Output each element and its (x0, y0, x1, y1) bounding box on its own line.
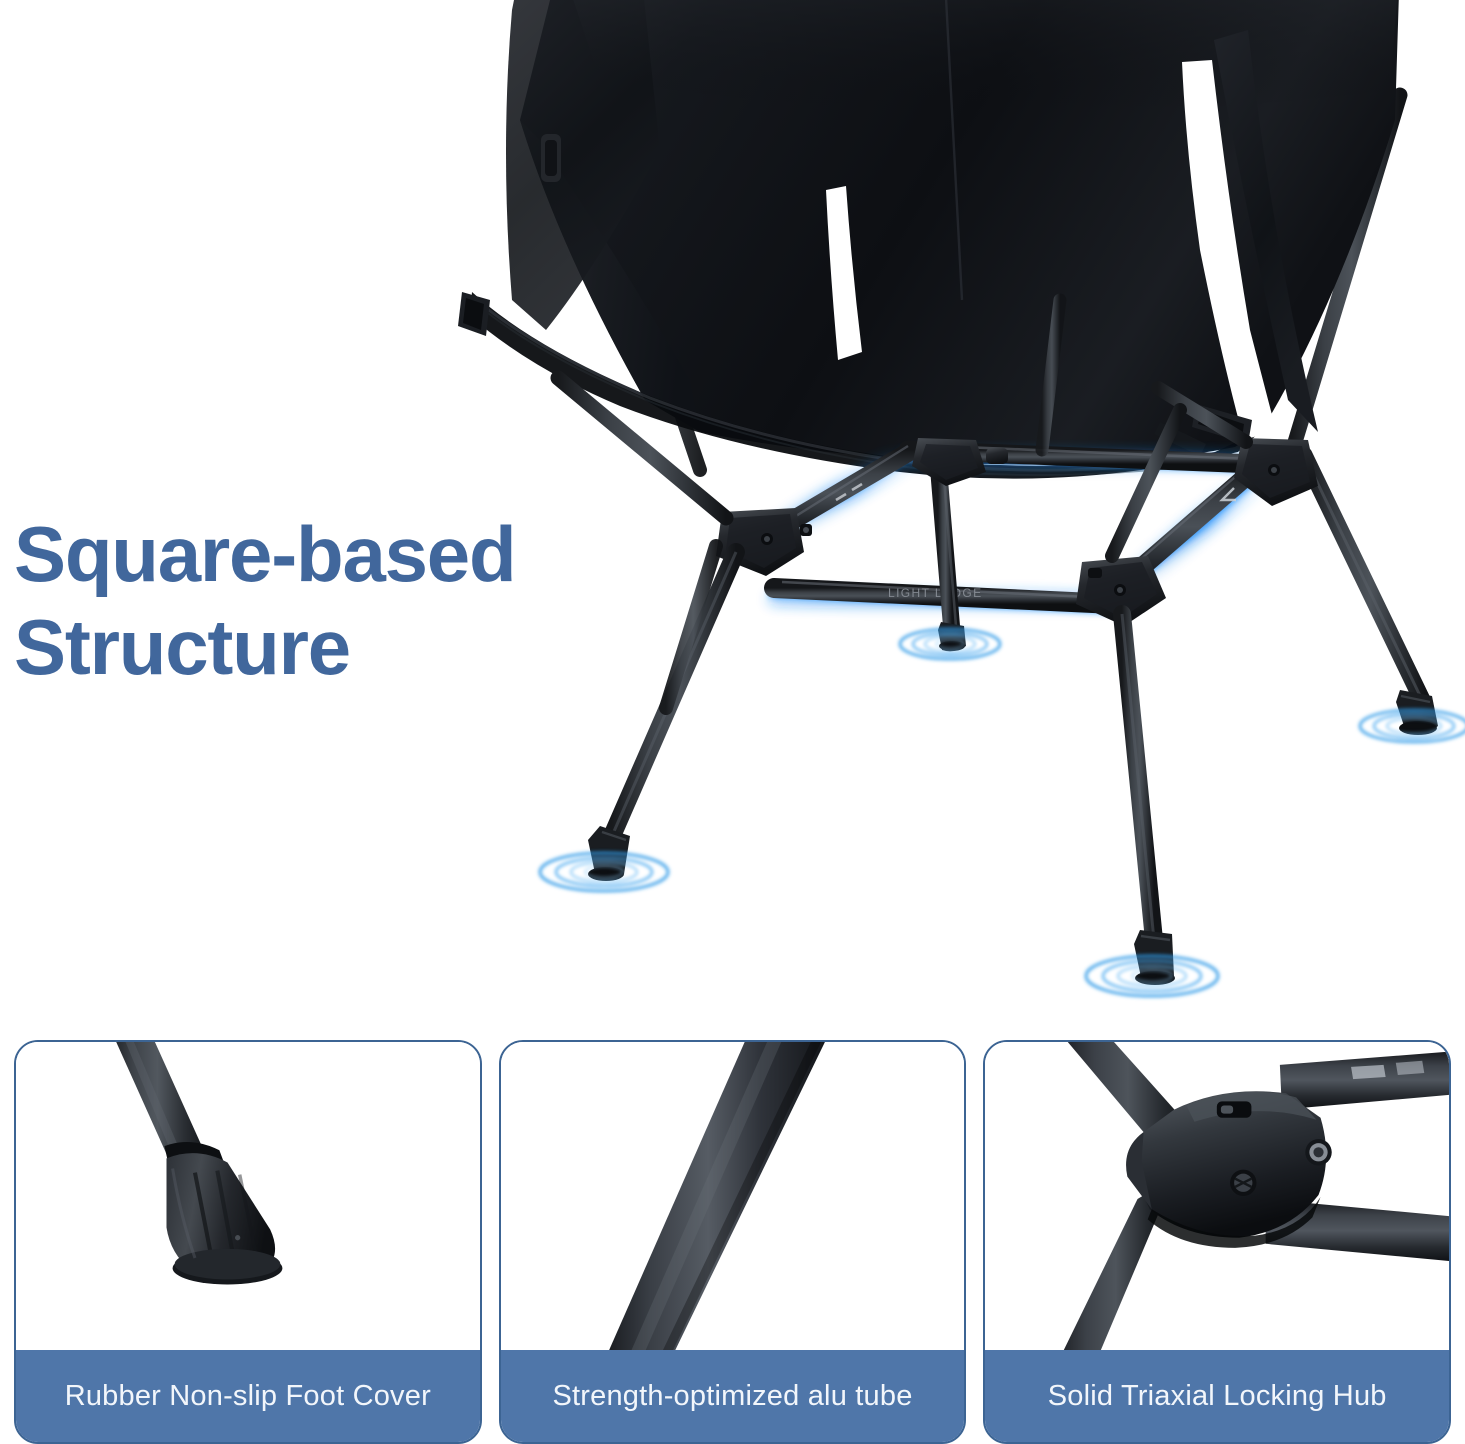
panel-caption-locking-hub: Solid Triaxial Locking Hub (985, 1350, 1449, 1442)
locking-hub-illustration (985, 1042, 1449, 1350)
product-feature-image: LIGHT LEDGE (0, 0, 1465, 1444)
panel-image-locking-hub (985, 1042, 1449, 1350)
rubber-foot-cover-illustration (16, 1042, 480, 1350)
panel-image-alu-tube (501, 1042, 965, 1350)
panel-image-rubber-foot-cover (16, 1042, 480, 1350)
feature-panel-locking-hub[interactable]: Solid Triaxial Locking Hub (983, 1040, 1451, 1444)
chair-illustration: LIGHT LEDGE (0, 0, 1465, 1030)
panel-caption-rubber-foot-cover: Rubber Non-slip Foot Cover (16, 1350, 480, 1442)
feature-panel-alu-tube[interactable]: Strength-optimized alu tube (499, 1040, 967, 1444)
hero-chair-image: LIGHT LEDGE (0, 0, 1465, 1030)
tube-label: LIGHT LEDGE (888, 586, 983, 600)
feature-panel-rubber-foot-cover[interactable]: Rubber Non-slip Foot Cover (14, 1040, 482, 1444)
panel-caption-alu-tube: Strength-optimized alu tube (501, 1350, 965, 1442)
feature-panels: Rubber Non-slip Foot Cover (0, 1040, 1465, 1444)
foot-rear-right (1396, 690, 1438, 735)
alu-tube-illustration (501, 1042, 965, 1350)
